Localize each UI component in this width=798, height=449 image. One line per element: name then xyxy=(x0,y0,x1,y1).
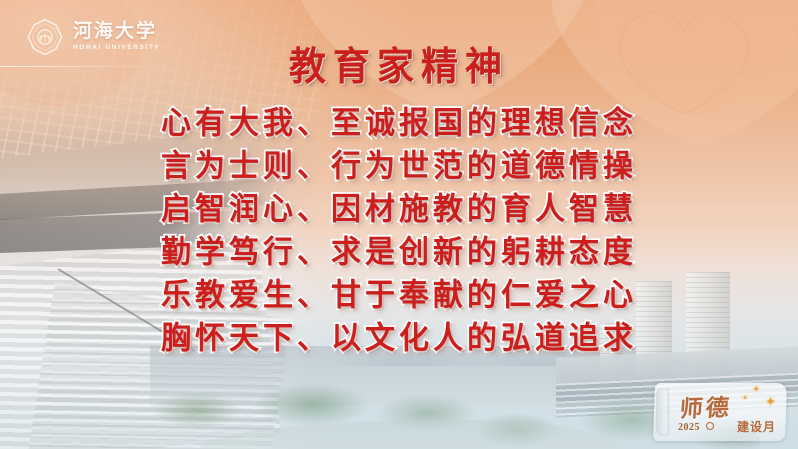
spirit-line: 启智润心、因材施教的育人智慧 xyxy=(0,187,798,232)
spirit-line: 乐教爱生、甘于奉献的仁爱之心 xyxy=(0,273,798,318)
emblem-main-text: 师德 xyxy=(679,388,734,424)
campaign-emblem: 师德 2025 建设月 ✦ ✦ ✦ xyxy=(654,383,786,441)
sparkle-icon: ✦ xyxy=(765,395,776,408)
spirit-lines-list: 心有大我、至诚报国的理想信念 言为士则、行为世范的道德情操 启智润心、因材施教的… xyxy=(0,102,798,360)
university-logo: 河海大学 HOHAI UNIVERSITY xyxy=(26,18,160,56)
spirit-line: 言为士则、行为世范的道德情操 xyxy=(0,144,798,189)
emblem-year: 2025 xyxy=(678,422,700,433)
logo-name-cn: 河海大学 xyxy=(73,22,160,41)
scroll-curl-icon xyxy=(656,388,669,436)
spirit-line: 勤学笃行、求是创新的躬耕态度 xyxy=(0,230,798,275)
sparkle-icon: ✦ xyxy=(742,395,748,402)
campus-lawn xyxy=(200,420,620,449)
logo-underline-rule xyxy=(0,66,152,67)
spirit-line: 胸怀天下、以文化人的弘道追求 xyxy=(0,316,798,361)
hohai-university-seal-icon xyxy=(26,18,64,56)
emblem-dot-icon xyxy=(706,422,714,430)
logo-name-en: HOHAI UNIVERSITY xyxy=(73,45,160,52)
poster-slide: 河海大学 HOHAI UNIVERSITY 教育家精神 心有大我、至诚报国的理想… xyxy=(0,0,798,449)
sparkle-icon: ✦ xyxy=(752,385,760,394)
emblem-suffix-text: 建设月 xyxy=(737,418,776,435)
spirit-line: 心有大我、至诚报国的理想信念 xyxy=(0,101,798,146)
logo-wordmark: 河海大学 HOHAI UNIVERSITY xyxy=(73,22,160,52)
